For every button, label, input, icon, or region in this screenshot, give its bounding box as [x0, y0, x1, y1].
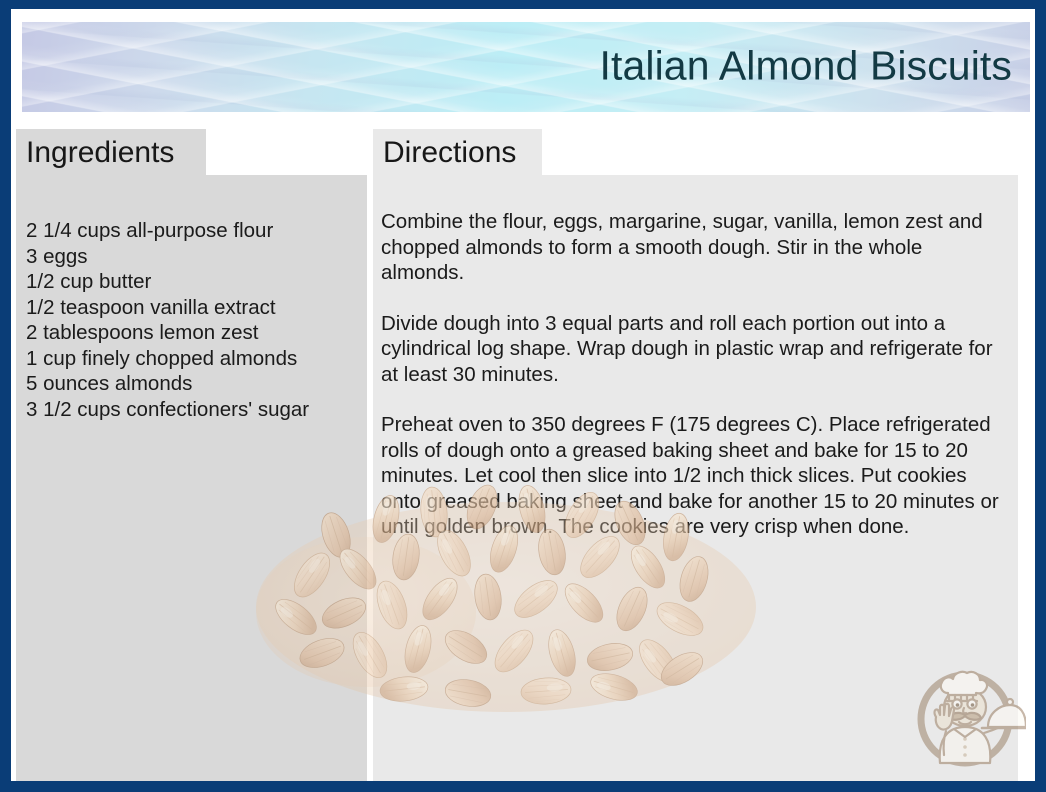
- directions-heading: Directions: [373, 129, 542, 175]
- slide-inner: Italian Almond Biscuits Ingredients 2 1/…: [11, 9, 1035, 781]
- list-item: 2 tablespoons lemon zest: [26, 320, 357, 346]
- direction-paragraph: Preheat oven to 350 degrees F (175 degre…: [381, 412, 1006, 540]
- direction-paragraph: Divide dough into 3 equal parts and roll…: [381, 311, 1006, 388]
- list-item: 5 ounces almonds: [26, 371, 357, 397]
- ingredients-heading: Ingredients: [16, 129, 206, 175]
- slide: Italian Almond Biscuits Ingredients 2 1/…: [0, 0, 1046, 792]
- ingredients-column: Ingredients 2 1/4 cups all-purpose flour…: [16, 129, 367, 781]
- list-item: 1 cup finely chopped almonds: [26, 346, 357, 372]
- title-banner: Italian Almond Biscuits: [22, 22, 1030, 112]
- list-item: 2 1/4 cups all-purpose flour: [26, 218, 357, 244]
- list-item: 3 eggs: [26, 244, 357, 270]
- ingredients-panel: 2 1/4 cups all-purpose flour 3 eggs 1/2 …: [16, 175, 367, 781]
- ingredients-list: 2 1/4 cups all-purpose flour 3 eggs 1/2 …: [26, 218, 357, 422]
- list-item: 3 1/2 cups confectioners' sugar: [26, 397, 357, 423]
- list-item: 1/2 teaspoon vanilla extract: [26, 295, 357, 321]
- page-title: Italian Almond Biscuits: [600, 43, 1013, 90]
- chef-mascot-logo: [904, 655, 1026, 777]
- direction-paragraph: Combine the flour, eggs, margarine, suga…: [381, 209, 1006, 286]
- list-item: 1/2 cup butter: [26, 269, 357, 295]
